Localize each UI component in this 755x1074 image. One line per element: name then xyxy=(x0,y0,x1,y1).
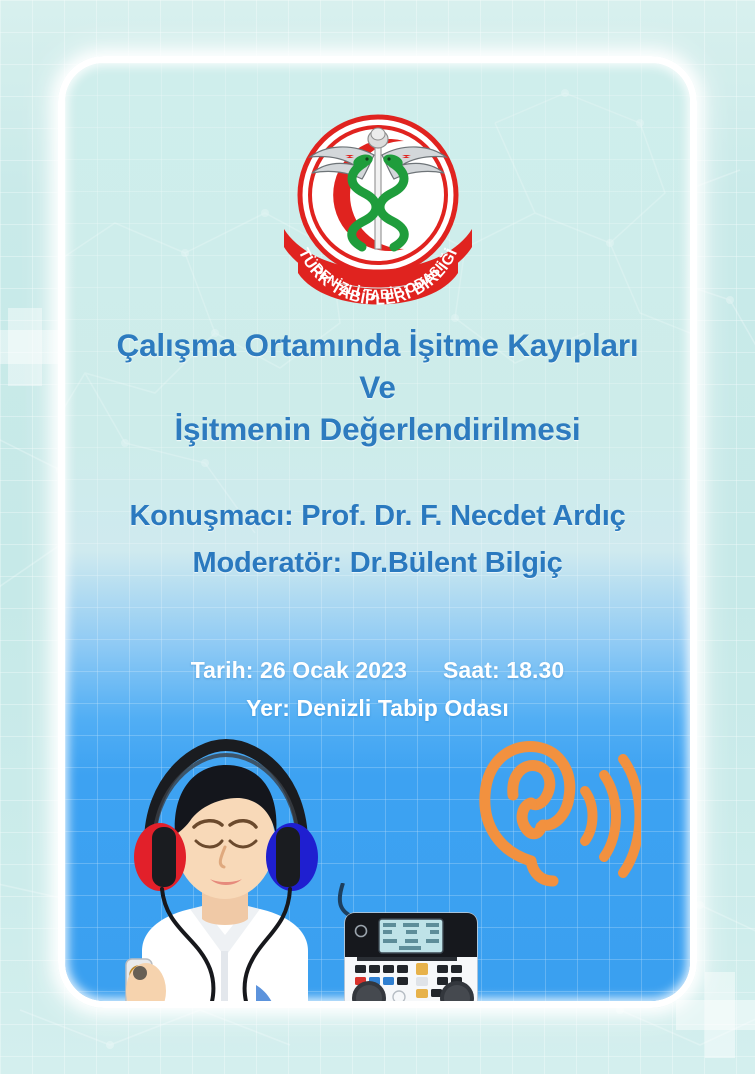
ear-with-sound-waves-icon xyxy=(461,735,641,895)
speaker-info: Konuşmacı: Prof. Dr. F. Necdet Ardıç Mod… xyxy=(65,493,690,587)
moderator-name: Moderatör: Dr.Bülent Bilgiç xyxy=(65,540,690,587)
event-details: Tarih: 26 Ocak 2023Saat: 18.30 Yer: Deni… xyxy=(65,652,690,728)
audiometer-device-illustration xyxy=(331,883,491,1008)
title-line-3: İşitmenin Değerlendirilmesi xyxy=(75,409,680,451)
event-date: Tarih: 26 Ocak 2023 xyxy=(191,657,407,683)
headphone-earcup-left xyxy=(134,823,186,891)
event-time: Saat: 18.30 xyxy=(443,657,564,683)
medical-cross-watermark-left-bar xyxy=(8,330,42,364)
headphone-earcup-right xyxy=(266,823,318,891)
medical-cross-watermark-right xyxy=(705,972,735,1058)
organization-logo: TÜRK TABİPLERİ BİRLİĞİ DENİZLİ TABİP ODA… xyxy=(278,111,478,306)
title-line-2: Ve xyxy=(75,367,680,409)
details-row-date-time: Tarih: 26 Ocak 2023Saat: 18.30 xyxy=(65,652,690,690)
poster-title: Çalışma Ortamında İşitme Kayıpları Ve İş… xyxy=(65,325,690,451)
patient-with-audiometric-headphones-illustration xyxy=(90,723,360,1008)
ttb-denizli-emblem-icon: TÜRK TABİPLERİ BİRLİĞİ DENİZLİ TABİP ODA… xyxy=(278,111,478,306)
event-poster: TÜRK TABİPLERİ BİRLİĞİ DENİZLİ TABİP ODA… xyxy=(0,0,755,1074)
poster-content-frame: TÜRK TABİPLERİ BİRLİĞİ DENİZLİ TABİP ODA… xyxy=(58,56,697,1008)
speaker-name: Konuşmacı: Prof. Dr. F. Necdet Ardıç xyxy=(65,493,690,540)
audiometer-cable xyxy=(340,883,353,917)
title-line-1: Çalışma Ortamında İşitme Kayıpları xyxy=(75,325,680,367)
